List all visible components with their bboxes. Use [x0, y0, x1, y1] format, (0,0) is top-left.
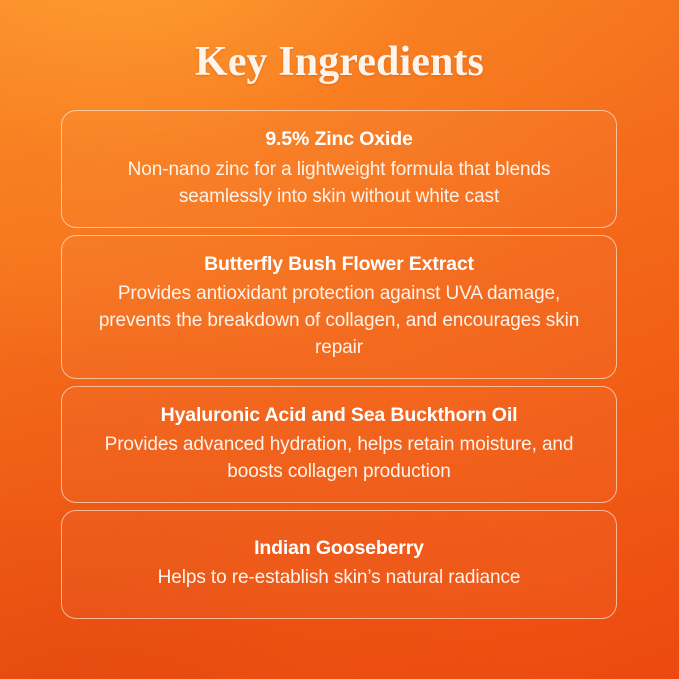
ingredient-description: Provides antioxidant protection against … — [84, 281, 594, 362]
ingredient-card-indian-gooseberry: Indian Gooseberry Helps to re-establish … — [61, 510, 617, 619]
ingredient-card-hyaluronic-acid: Hyaluronic Acid and Sea Buckthorn Oil Pr… — [61, 386, 617, 503]
ingredient-title: Hyaluronic Acid and Sea Buckthorn Oil — [84, 402, 594, 428]
ingredient-title: 9.5% Zinc Oxide — [84, 126, 594, 152]
ingredient-description: Provides advanced hydration, helps retai… — [84, 432, 594, 486]
ingredient-card-zinc: 9.5% Zinc Oxide Non-nano zinc for a ligh… — [61, 110, 617, 227]
ingredient-description: Helps to re-establish skin’s natural rad… — [84, 565, 594, 592]
ingredient-title: Indian Gooseberry — [84, 535, 594, 561]
ingredient-card-butterfly-bush: Butterfly Bush Flower Extract Provides a… — [61, 235, 617, 379]
ingredient-description: Non-nano zinc for a lightweight formula … — [84, 157, 594, 211]
ingredient-card-list: 9.5% Zinc Oxide Non-nano zinc for a ligh… — [61, 110, 617, 619]
key-ingredients-infographic: Key Ingredients 9.5% Zinc Oxide Non-nano… — [0, 0, 679, 679]
ingredient-title: Butterfly Bush Flower Extract — [84, 251, 594, 277]
page-title: Key Ingredients — [0, 0, 679, 86]
